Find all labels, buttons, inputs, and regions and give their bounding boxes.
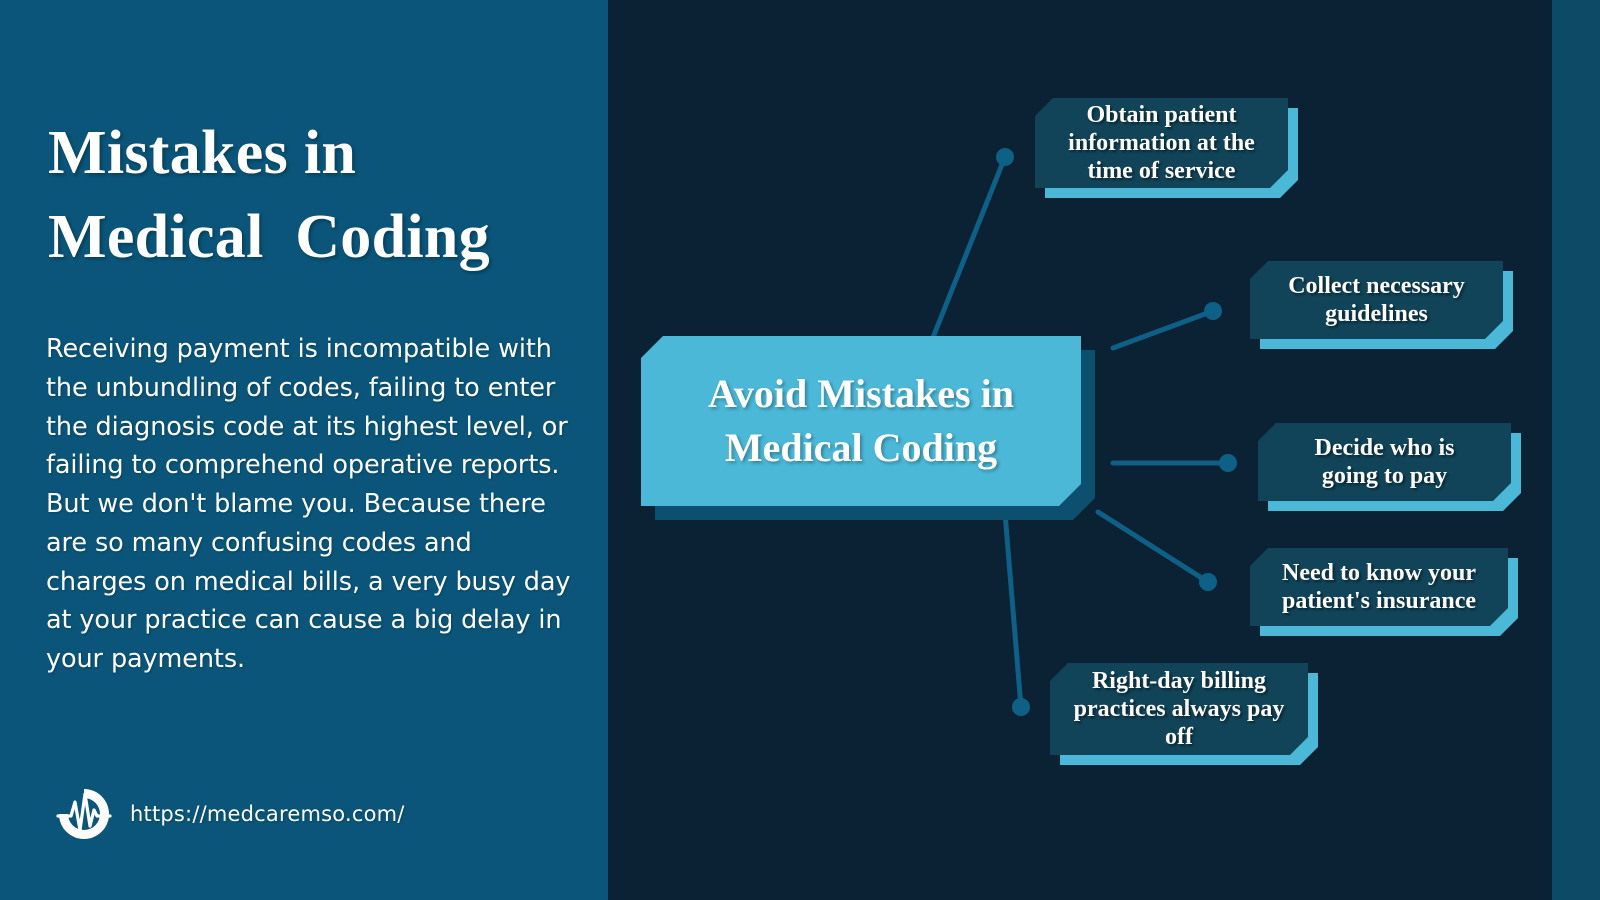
branch-node-label: Need to know your patient's insurance — [1272, 553, 1486, 622]
central-node-label: Avoid Mistakes in Medical Coding — [708, 367, 1014, 475]
branch-node-face: Collect necessary guidelines — [1250, 261, 1503, 339]
page-title-line-1: Mistakes in — [48, 112, 588, 196]
branch-node-face: Obtain patient information at the time o… — [1035, 98, 1288, 188]
left-text-panel: Mistakes in Medical Coding Receiving pay… — [0, 0, 608, 900]
branch-label-line-1: Obtain patient — [1086, 102, 1236, 128]
branch-node-label: Obtain patient information at the time o… — [1058, 95, 1265, 192]
branch-label-line-2: going to pay — [1322, 463, 1447, 489]
branch-node-label: Right-day billing practices always pay o… — [1064, 661, 1295, 758]
intro-paragraph: Receiving payment is incompatible with t… — [46, 330, 576, 679]
branch-label-line-2: information at the — [1068, 130, 1255, 156]
branch-label-line-2: practices always pay — [1074, 696, 1285, 722]
branch-node-obtain-patient-information[interactable]: Obtain patient information at the time o… — [1035, 98, 1288, 188]
infographic-canvas: Mistakes in Medical Coding Receiving pay… — [0, 0, 1600, 900]
branch-node-decide-who-is-going-to-pay[interactable]: Decide who is going to pay — [1258, 423, 1511, 501]
branch-node-need-to-know-patients-insurance[interactable]: Need to know your patient's insurance — [1250, 548, 1508, 626]
brand-row: https://medcaremso.com/ — [56, 786, 405, 842]
branch-label-line-1: Right-day billing — [1092, 668, 1266, 694]
branch-node-label: Decide who is going to pay — [1305, 428, 1465, 497]
branch-node-right-day-billing-practices[interactable]: Right-day billing practices always pay o… — [1050, 663, 1308, 755]
right-edge-accent-strip — [1552, 0, 1600, 900]
branch-node-collect-necessary-guidelines[interactable]: Collect necessary guidelines — [1250, 261, 1503, 339]
branch-node-face: Need to know your patient's insurance — [1250, 548, 1508, 626]
branch-node-face: Right-day billing practices always pay o… — [1050, 663, 1308, 755]
ekg-heartbeat-circle-logo — [56, 786, 112, 842]
site-url-text[interactable]: https://medcaremso.com/ — [130, 802, 405, 826]
branch-node-face: Decide who is going to pay — [1258, 423, 1511, 501]
branch-label-line-2: patient's insurance — [1282, 588, 1476, 614]
branch-label-line-3: off — [1165, 724, 1193, 750]
central-node-face: Avoid Mistakes in Medical Coding — [641, 336, 1081, 506]
central-node-avoid-mistakes[interactable]: Avoid Mistakes in Medical Coding — [641, 336, 1081, 506]
branch-label-line-2: guidelines — [1325, 301, 1428, 327]
page-title: Mistakes in Medical Coding — [48, 112, 588, 279]
central-node-label-line-2: Medical Coding — [725, 425, 997, 470]
branch-label-line-3: time of service — [1088, 158, 1236, 184]
branch-label-line-1: Need to know your — [1282, 560, 1476, 586]
central-node-label-line-1: Avoid Mistakes in — [708, 371, 1014, 416]
branch-node-label: Collect necessary guidelines — [1278, 266, 1475, 335]
branch-label-line-1: Decide who is — [1315, 435, 1455, 461]
page-title-line-2: Medical Coding — [48, 196, 588, 280]
branch-label-line-1: Collect necessary — [1288, 273, 1465, 299]
